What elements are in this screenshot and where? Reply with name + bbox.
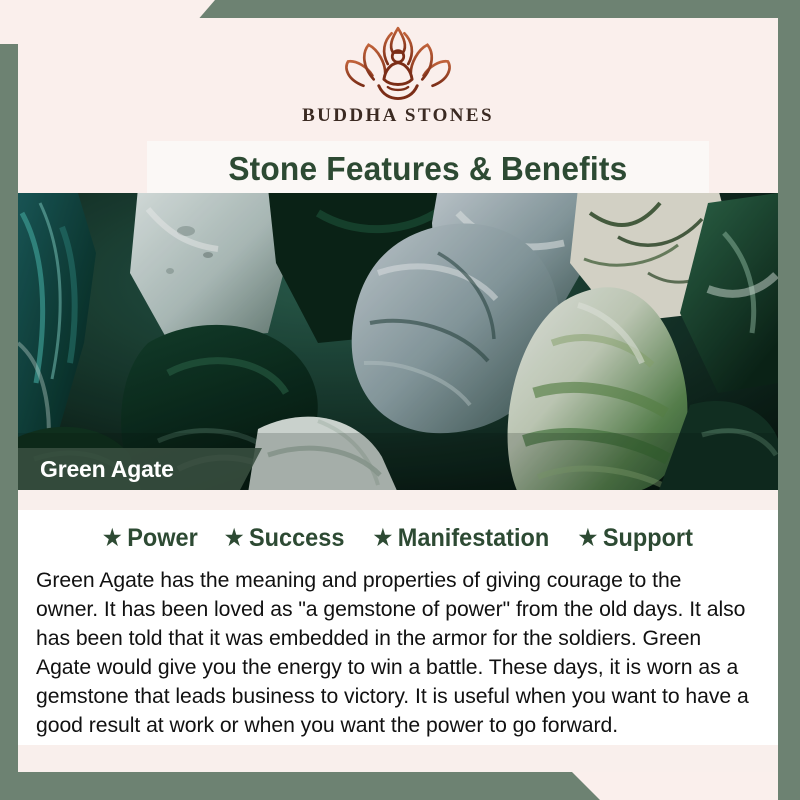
keyword-label: Support xyxy=(602,524,692,553)
star-icon: ★ xyxy=(224,527,243,549)
description-panel: ★ Power ★ Success ★ Manifestation ★ Supp… xyxy=(18,510,778,745)
bottom-green-accent-bar xyxy=(0,772,800,800)
keyword-support: ★ Support xyxy=(578,524,692,553)
keyword-label: Success xyxy=(249,524,344,553)
content-card: BUDDHA STONES Stone Features & Benefits xyxy=(18,18,778,772)
bottom-cream-strip xyxy=(18,745,778,772)
brand-header: BUDDHA STONES xyxy=(18,18,778,138)
star-icon: ★ xyxy=(103,527,122,549)
star-icon: ★ xyxy=(578,527,597,549)
keyword-label: Power xyxy=(127,524,198,553)
stone-photo: Green Agate xyxy=(18,193,778,490)
stone-name-banner: Green Agate xyxy=(18,448,262,490)
divider-strip xyxy=(18,490,778,510)
keyword-success: ★ Success xyxy=(224,524,344,553)
keyword-list: ★ Power ★ Success ★ Manifestation ★ Supp… xyxy=(18,510,778,560)
left-green-border xyxy=(0,44,18,800)
description-text: Green Agate has the meaning and properti… xyxy=(36,566,749,740)
keyword-power: ★ Power xyxy=(103,524,198,553)
title-band: Stone Features & Benefits xyxy=(147,141,709,197)
stone-name: Green Agate xyxy=(40,456,174,483)
keyword-manifestation: ★ Manifestation xyxy=(373,524,549,553)
keyword-label: Manifestation xyxy=(398,524,549,553)
lotus-meditation-figure-icon xyxy=(334,24,462,104)
star-icon: ★ xyxy=(373,527,392,549)
page-title: Stone Features & Benefits xyxy=(228,150,627,188)
right-green-border xyxy=(778,0,800,800)
infographic-page: BUDDHA STONES Stone Features & Benefits xyxy=(0,0,800,800)
brand-name: BUDDHA STONES xyxy=(302,105,494,127)
